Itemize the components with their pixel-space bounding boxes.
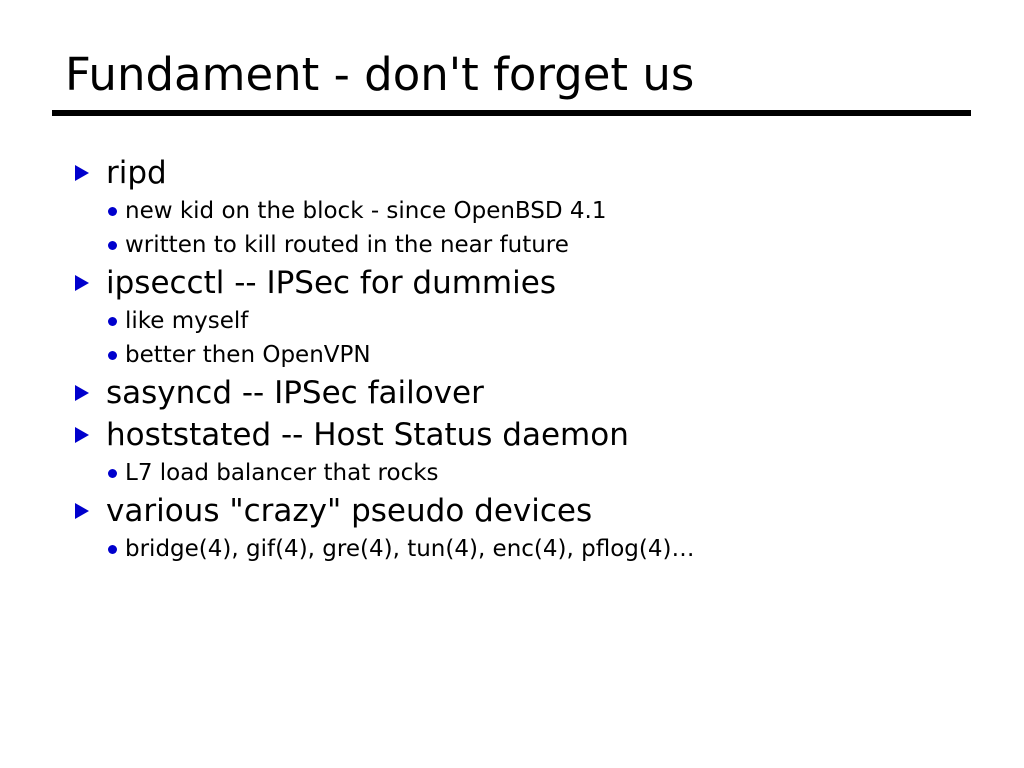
list-item: ripd [66, 152, 966, 194]
sub-outline-list: like myself better then OpenVPN [66, 304, 966, 372]
title-underline-rule [52, 110, 971, 116]
list-item-label: ipsecctl -- IPSec for dummies [106, 265, 556, 301]
sub-outline-list: L7 load balancer that rocks [66, 456, 966, 490]
list-item: hoststated -- Host Status daemon [66, 414, 966, 456]
outline-list: ripd new kid on the block - since OpenBS… [66, 152, 966, 566]
list-item-label: new kid on the block - since OpenBSD 4.1 [125, 198, 607, 224]
triangle-right-icon [75, 275, 89, 291]
list-item: bridge(4), gif(4), gre(4), tun(4), enc(4… [66, 532, 966, 566]
list-item-label: sasyncd -- IPSec failover [106, 375, 484, 411]
list-item: L7 load balancer that rocks [66, 456, 966, 490]
sub-outline-list: new kid on the block - since OpenBSD 4.1… [66, 194, 966, 262]
triangle-right-icon [75, 165, 89, 181]
list-item-label: various "crazy" pseudo devices [106, 493, 592, 529]
list-item-label: better then OpenVPN [125, 342, 371, 368]
list-item: various "crazy" pseudo devices [66, 490, 966, 532]
list-item-label: L7 load balancer that rocks [125, 460, 439, 486]
list-item: new kid on the block - since OpenBSD 4.1 [66, 194, 966, 228]
triangle-right-icon [75, 385, 89, 401]
list-item: ipsecctl -- IPSec for dummies [66, 262, 966, 304]
list-item: like myself [66, 304, 966, 338]
list-item-label: written to kill routed in the near futur… [125, 232, 569, 258]
list-item-label: bridge(4), gif(4), gre(4), tun(4), enc(4… [125, 536, 694, 562]
dot-icon [108, 545, 117, 554]
dot-icon [108, 207, 117, 216]
triangle-right-icon [75, 427, 89, 443]
presentation-slide: Fundament - don't forget us ripd new kid… [0, 0, 1024, 768]
dot-icon [108, 317, 117, 326]
sub-outline-list: bridge(4), gif(4), gre(4), tun(4), enc(4… [66, 532, 966, 566]
page-title: Fundament - don't forget us [52, 48, 972, 102]
list-item: better then OpenVPN [66, 338, 966, 372]
slide-content: ripd new kid on the block - since OpenBS… [66, 152, 966, 566]
list-item-label: ripd [106, 155, 167, 191]
dot-icon [108, 469, 117, 478]
dot-icon [108, 351, 117, 360]
slide-title-block: Fundament - don't forget us [52, 48, 972, 102]
list-item: written to kill routed in the near futur… [66, 228, 966, 262]
triangle-right-icon [75, 503, 89, 519]
list-item-label: hoststated -- Host Status daemon [106, 417, 629, 453]
list-item: sasyncd -- IPSec failover [66, 372, 966, 414]
list-item-label: like myself [125, 308, 248, 334]
dot-icon [108, 241, 117, 250]
